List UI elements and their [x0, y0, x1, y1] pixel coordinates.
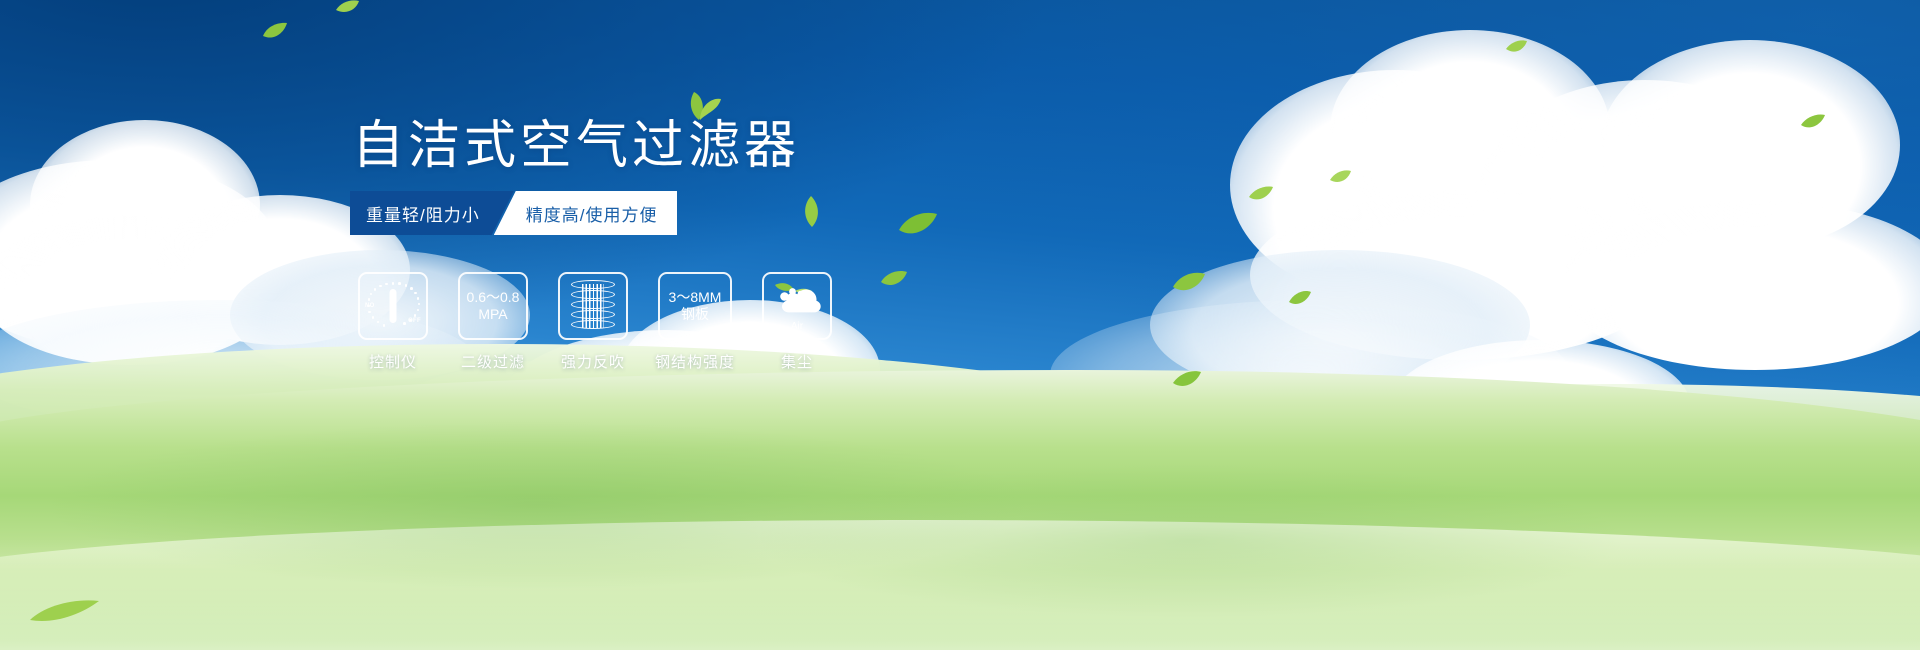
feature-label: 钢结构强度	[655, 351, 735, 372]
feature-item-steel-strength[interactable]: 3～8MM 钢板 钢结构强度	[658, 272, 732, 372]
cloud-air-icon: Air	[769, 281, 825, 331]
feature-list: NO OFF	[358, 272, 832, 372]
feature-box: 3～8MM 钢板	[658, 272, 732, 340]
feature-box: NO OFF	[358, 272, 428, 340]
badge-weight-resistance[interactable]: 重量轻/阻力小	[350, 191, 514, 235]
feature-box-text-line2: MPA	[478, 306, 507, 323]
feature-box-text-line1: 0.6～0.8	[467, 289, 520, 306]
filter-coil-icon	[571, 280, 615, 332]
feature-box	[558, 272, 628, 340]
feature-label: 二级过滤	[461, 351, 525, 372]
gauge-needle	[390, 289, 397, 323]
badge-precision-convenience[interactable]: 精度高/使用方便	[494, 191, 678, 235]
gauge-icon: NO OFF	[364, 280, 422, 332]
feature-box-text-line2: 钢板	[681, 306, 709, 323]
feature-label: 控制仪	[369, 351, 417, 372]
feature-box-text-line1: 3～8MM	[669, 289, 722, 306]
feature-item-dust-collection[interactable]: Air 集尘	[762, 272, 832, 372]
feature-label: 集尘	[781, 351, 813, 372]
hero-banner: 自洁式空气过滤器 重量轻/阻力小 精度高/使用方便 NO OFF	[0, 0, 1920, 650]
page-title: 自洁式空气过滤器	[352, 120, 800, 172]
air-label: Air	[769, 321, 825, 332]
feature-item-two-stage-filter[interactable]: 0.6～0.8 MPA 二级过滤	[458, 272, 528, 372]
feature-box: 0.6～0.8 MPA	[458, 272, 528, 340]
banner-content: 自洁式空气过滤器 重量轻/阻力小 精度高/使用方便 NO OFF	[0, 0, 1920, 650]
feature-item-controller[interactable]: NO OFF	[358, 272, 428, 372]
feature-item-reverse-blow[interactable]: 强力反吹	[558, 272, 628, 372]
feature-label: 强力反吹	[561, 351, 625, 372]
feature-box: Air	[762, 272, 832, 340]
badge-group: 重量轻/阻力小 精度高/使用方便	[350, 191, 677, 235]
